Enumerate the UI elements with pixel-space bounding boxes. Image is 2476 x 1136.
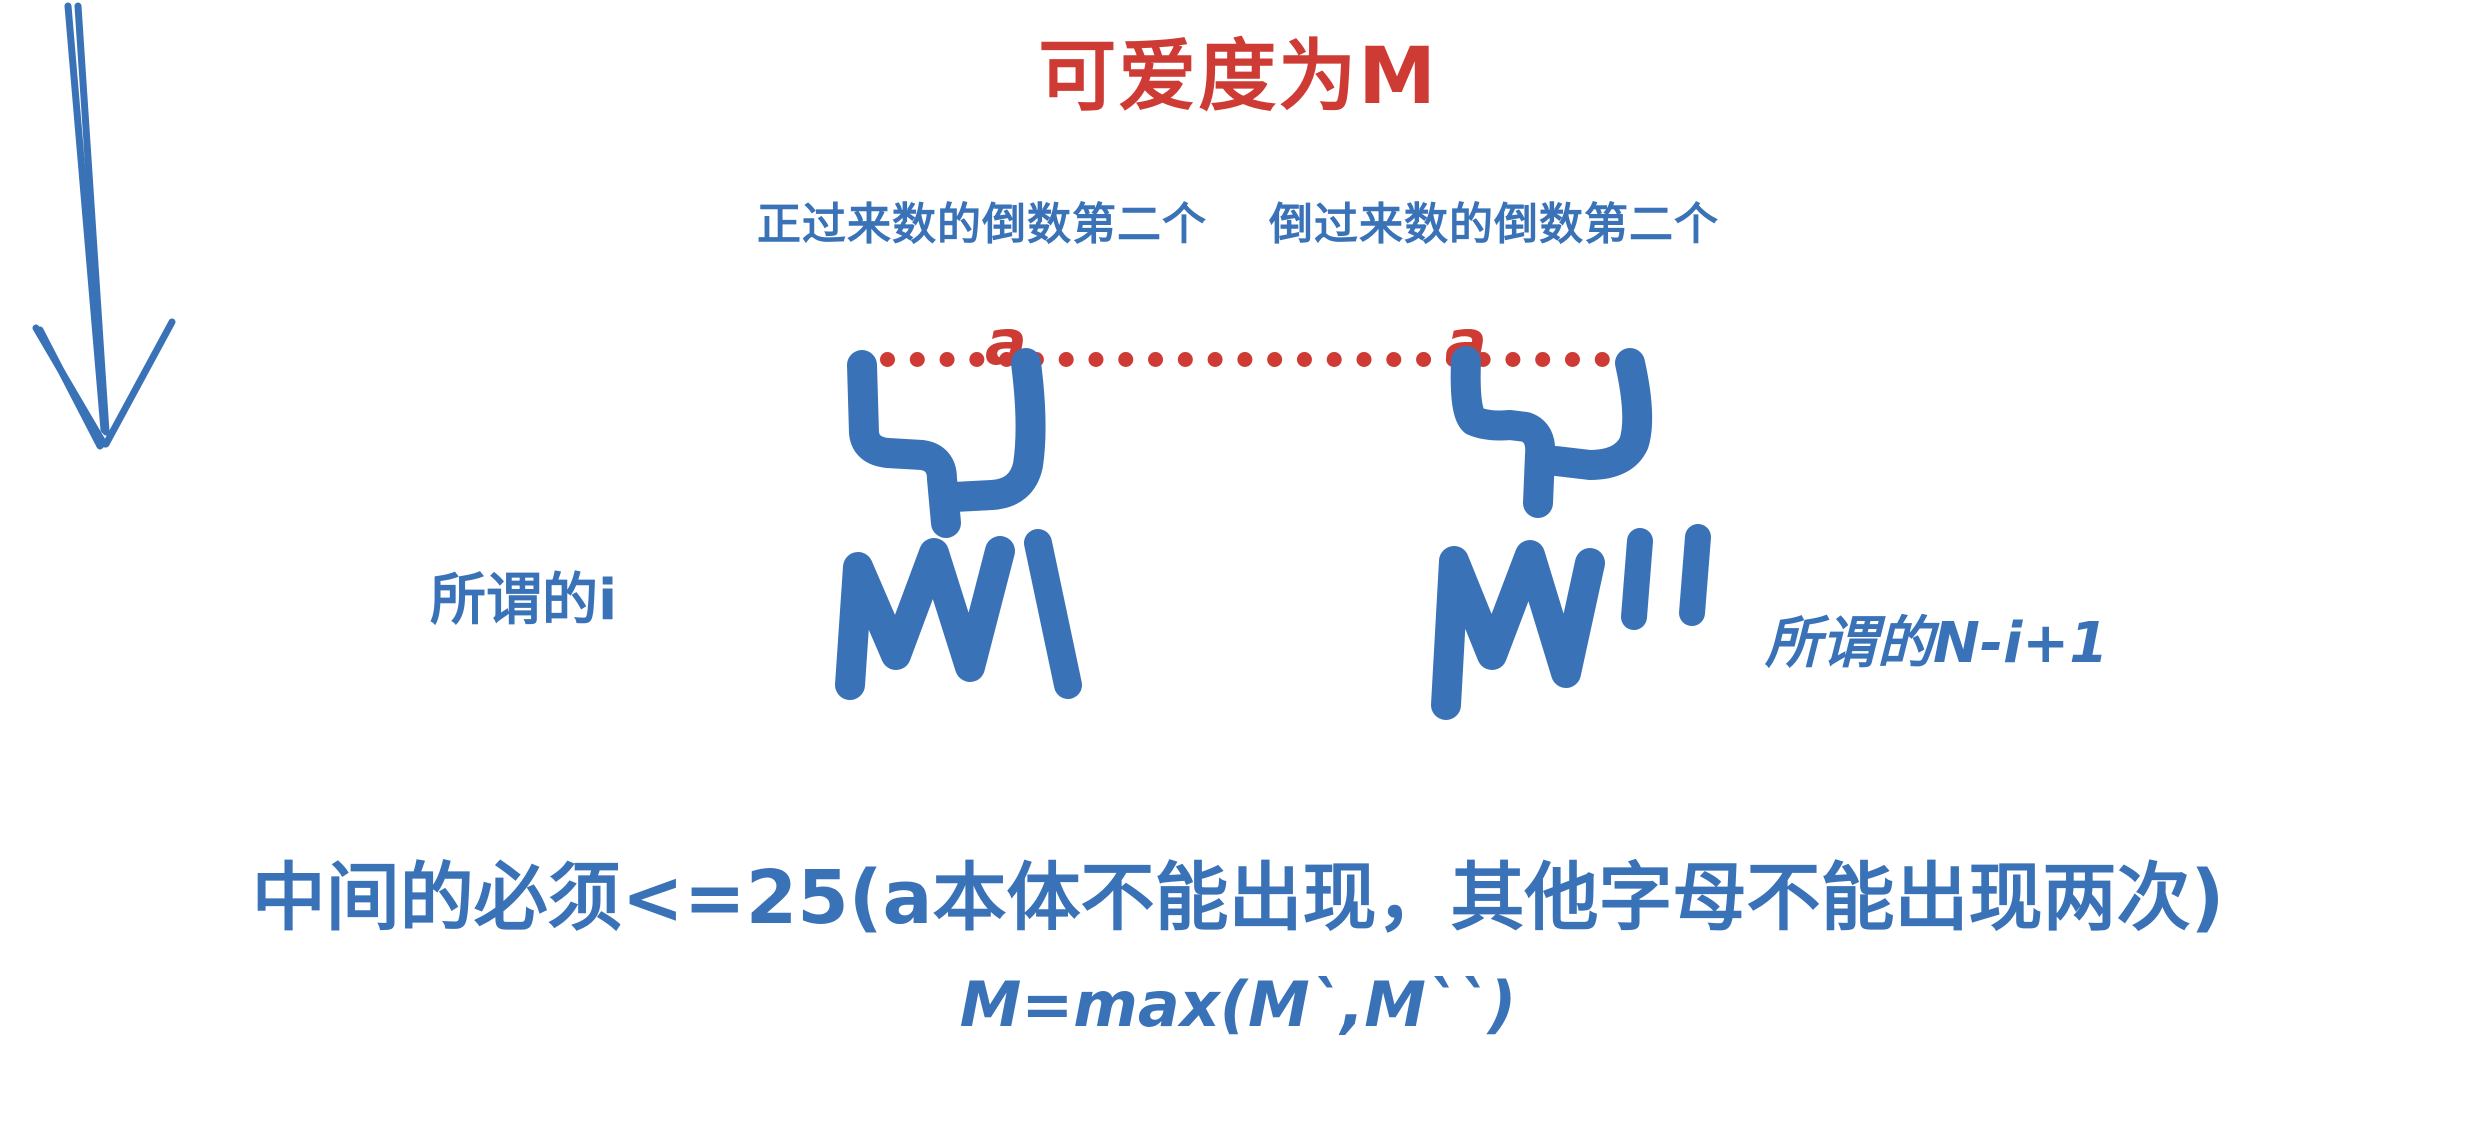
label-index-i: 所谓的i bbox=[430, 555, 617, 636]
page-title: 可爱度为M bbox=[0, 38, 2476, 116]
letter-m-icon bbox=[1446, 555, 1590, 705]
prime-mark-icon bbox=[1038, 543, 1068, 685]
curly-brace-down-icon bbox=[862, 363, 1031, 523]
letter-m-icon bbox=[850, 551, 1000, 685]
conclusion-rule: 中间的必须<=25(a本体不能出现，其他字母不能出现两次) bbox=[0, 838, 2476, 945]
curly-brace-down-icon bbox=[1466, 361, 1638, 503]
subtitle-backward: 倒过来数的倒数第二个 bbox=[1269, 188, 1719, 252]
glyph-m-double-prime-right bbox=[1430, 355, 1770, 705]
double-prime-mark-icon bbox=[1634, 537, 1698, 617]
subtitle-forward: 正过来数的倒数第二个 bbox=[757, 188, 1207, 252]
glyph-m-prime-left bbox=[830, 355, 1150, 685]
subtitle-row: 正过来数的倒数第二个 倒过来数的倒数第二个 bbox=[0, 188, 2476, 252]
label-index-n-i-plus-1: 所谓的N-i+1 bbox=[1765, 598, 2108, 679]
whiteboard-canvas: 可爱度为M 正过来数的倒数第二个 倒过来数的倒数第二个 a a bbox=[0, 0, 2476, 1136]
conclusion-formula: M=max(M`,M``) bbox=[0, 968, 2476, 1041]
